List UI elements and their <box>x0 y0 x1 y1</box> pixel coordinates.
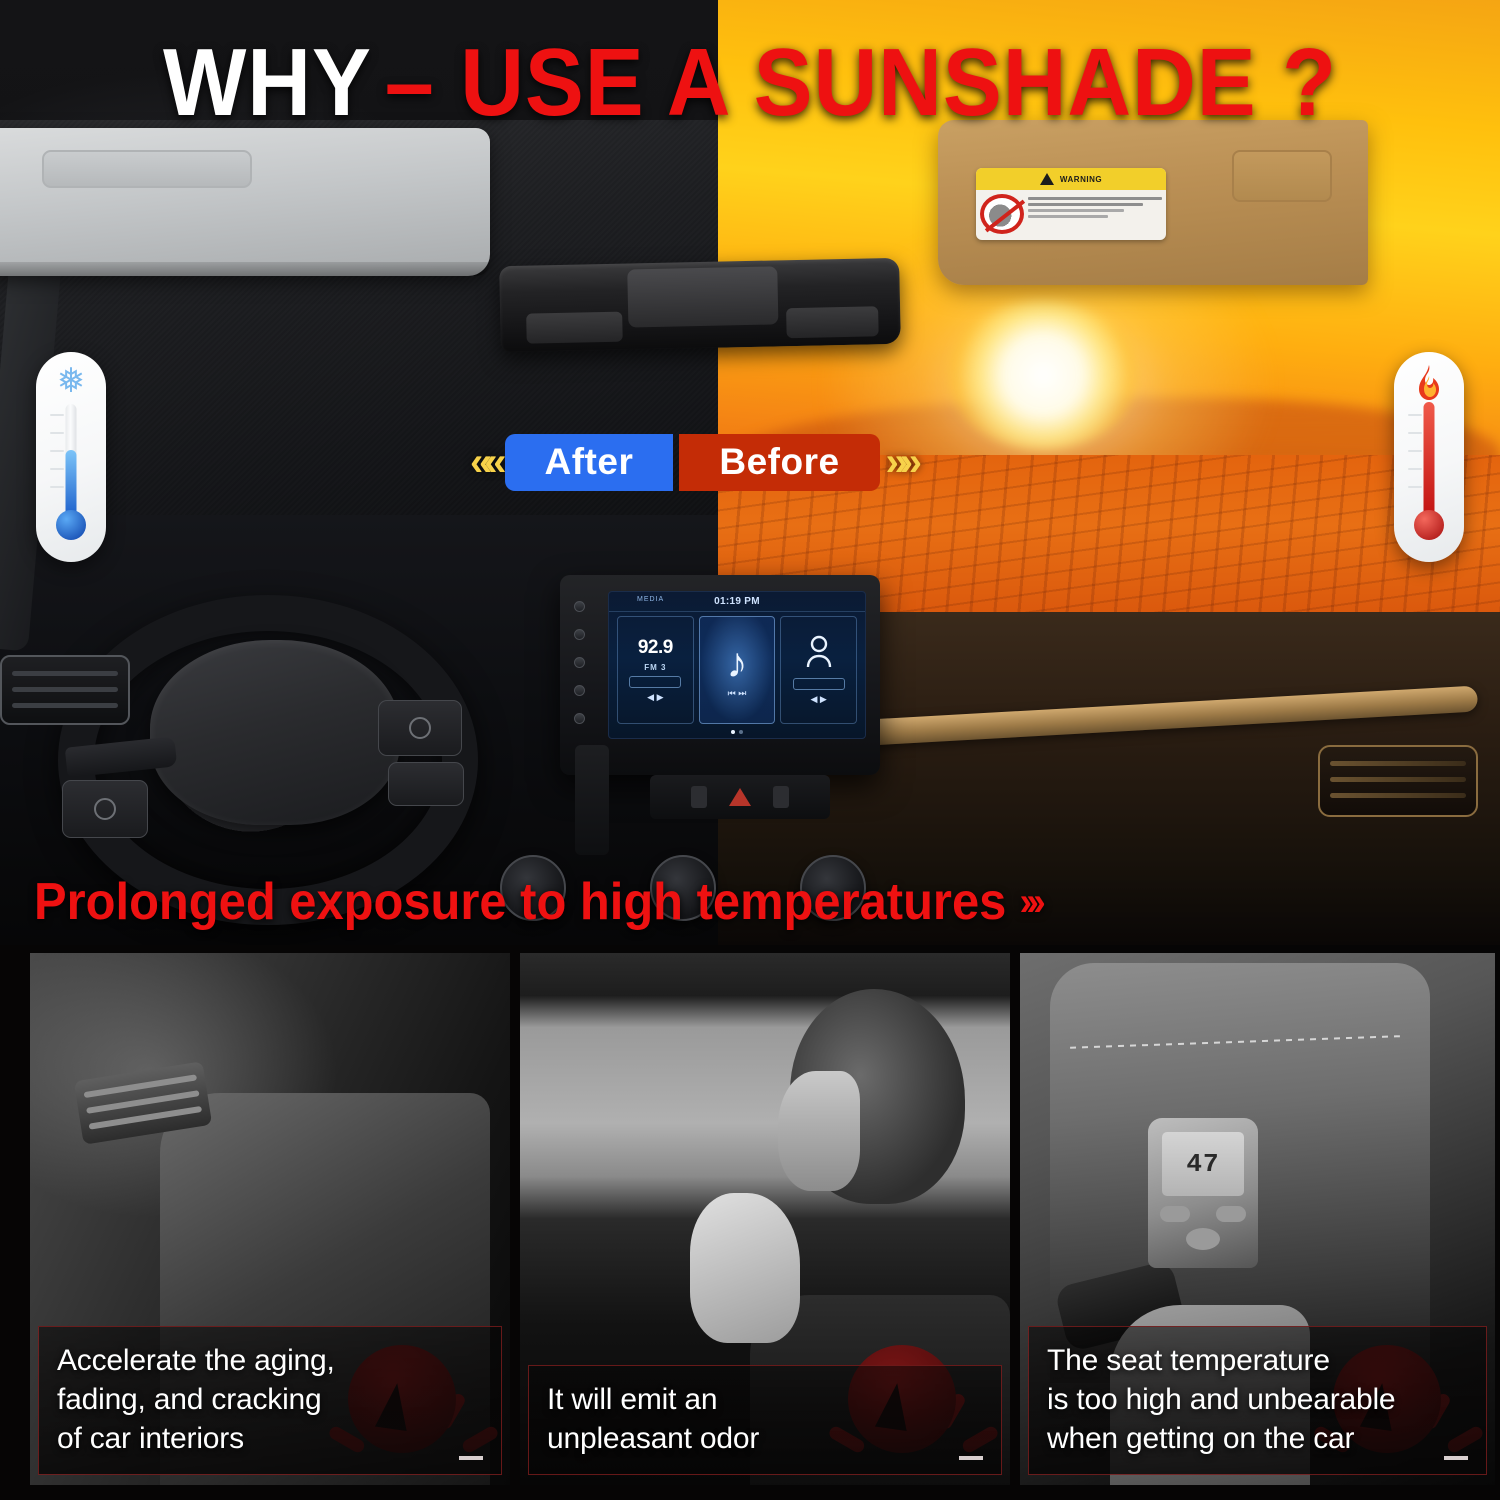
thermometer-display: 47 <box>1162 1132 1244 1196</box>
visor-edge <box>0 262 490 276</box>
screen-source-label: MEDIA <box>637 596 664 603</box>
air-vent-left <box>0 655 130 725</box>
console-mount-arm <box>575 745 609 855</box>
caption-line-1: Accelerate the aging, <box>57 1341 487 1380</box>
steering-control-right <box>378 700 462 756</box>
headline-red: – USE A SUNSHADE ? <box>385 35 1337 131</box>
media-tile[interactable]: ♪ ⏮ ⏭ <box>699 616 776 724</box>
sun-visor-right: WARNING <box>938 120 1368 285</box>
sun-icon <box>948 300 1138 450</box>
reflected-seatback-right <box>786 306 879 338</box>
steering-control-right-lower <box>388 762 464 806</box>
page-title: WHY – USE A SUNSHADE ? <box>60 28 1440 138</box>
hero-split-image: WARNING MEDIA <box>0 0 1500 945</box>
phone-status-pill[interactable] <box>793 678 845 690</box>
caption-line-1: It will emit an <box>547 1380 987 1419</box>
hazard-light-icon[interactable] <box>729 788 751 806</box>
phone-arrows[interactable]: ◀ ▶ <box>811 694 827 705</box>
rearview-mirror <box>499 258 901 352</box>
visor-slot <box>42 150 252 188</box>
air-vent-right <box>1318 745 1478 817</box>
seat-heater-left-button[interactable] <box>691 786 707 808</box>
radio-tile[interactable]: 92.9 FM 3 ◀ ▶ <box>617 616 694 724</box>
snowflake-icon: ❅ <box>57 364 86 398</box>
headline-white: WHY <box>163 35 372 131</box>
warning-title: WARNING <box>1060 175 1102 184</box>
airbag-warning-label: WARNING <box>976 168 1166 240</box>
thermometer-bulb-cold <box>56 510 86 540</box>
console-side-buttons[interactable] <box>574 601 585 724</box>
cold-thermometer-badge: ❅ <box>36 352 106 562</box>
panel-aging: Accelerate the aging, fading, and cracki… <box>30 953 510 1485</box>
tagline-text: Prolonged exposure to high temperatures <box>34 872 1006 932</box>
hot-thermometer-badge <box>1394 352 1464 562</box>
text-cursor <box>459 1456 483 1460</box>
caption-line-2: unpleasant odor <box>547 1419 987 1458</box>
infotainment-screen[interactable]: MEDIA 01:19 PM 92.9 FM 3 ◀ ▶ ♪ ⏮ ⏭ <box>608 591 866 739</box>
screen-status-bar: MEDIA 01:19 PM <box>609 592 865 612</box>
radio-arrows[interactable]: ◀ ▶ <box>647 692 663 703</box>
text-cursor <box>959 1456 983 1460</box>
panel-caption: It will emit an unpleasant odor <box>528 1365 1002 1475</box>
thermometer-ticks-hot <box>1408 414 1422 504</box>
seat-heater-right-button[interactable] <box>773 786 789 808</box>
reflected-seatback-left <box>526 312 623 344</box>
screen-clock: 01:19 PM <box>714 596 760 607</box>
person-icon <box>804 635 834 674</box>
product-infographic: WARNING MEDIA <box>0 0 1500 1500</box>
text-cursor <box>1444 1456 1468 1460</box>
panel-seat-temp: 47 The seat temperature is too high and … <box>1020 953 1495 1485</box>
before-after-toggle[interactable]: «« After Before »» <box>470 434 914 491</box>
mirror-mount <box>627 266 778 327</box>
right-chevron-icon: »» <box>886 442 915 482</box>
consequence-panels: Accelerate the aging, fading, and cracki… <box>0 945 1500 1500</box>
caption-line-2: fading, and cracking <box>57 1380 487 1419</box>
panel-caption: The seat temperature is too high and unb… <box>1028 1326 1487 1475</box>
radio-frequency: 92.9 <box>638 637 673 659</box>
warning-body <box>976 190 1166 238</box>
lower-control-panel[interactable] <box>650 775 830 819</box>
radio-preset-pill[interactable] <box>629 676 681 688</box>
after-label[interactable]: After <box>505 434 674 491</box>
screen-tiles: 92.9 FM 3 ◀ ▶ ♪ ⏮ ⏭ <box>617 616 857 724</box>
sun-visor-left <box>0 128 490 276</box>
man-face <box>778 1071 860 1191</box>
steering-knob-left <box>94 798 116 820</box>
thermometer-bulb-hot <box>1414 510 1444 540</box>
warning-text-lines <box>1028 194 1162 234</box>
visor-slot-right <box>1232 150 1332 202</box>
panel-odor: It will emit an unpleasant odor <box>520 953 1010 1485</box>
before-label[interactable]: Before <box>679 434 879 491</box>
panel-caption: Accelerate the aging, fading, and cracki… <box>38 1326 502 1475</box>
caption-line-3: when getting on the car <box>1047 1419 1472 1458</box>
steering-wheel-hub <box>150 640 400 825</box>
steering-control-left <box>62 780 148 838</box>
infrared-thermometer: 47 <box>1148 1118 1258 1268</box>
music-note-icon: ♪ <box>727 642 748 684</box>
thermometer-reading: 47 <box>1186 1149 1219 1179</box>
left-chevron-icon: «« <box>470 442 499 482</box>
caption-line-3: of car interiors <box>57 1419 487 1458</box>
screen-page-dots[interactable] <box>731 730 743 734</box>
warning-header: WARNING <box>976 168 1166 190</box>
thermometer-fill-hot <box>1424 402 1435 522</box>
media-transport-arrows[interactable]: ⏮ ⏭ <box>728 688 747 699</box>
section-tagline: Prolonged exposure to high temperatures … <box>34 872 1040 932</box>
warning-triangle-icon <box>1040 173 1054 185</box>
man-hand <box>690 1193 800 1343</box>
radio-band: FM 3 <box>644 663 666 672</box>
tagline-chevron-icon: ››› <box>1019 880 1040 925</box>
caption-line-1: The seat temperature <box>1047 1341 1472 1380</box>
thermometer-ticks-cold <box>50 414 64 504</box>
center-console: MEDIA 01:19 PM 92.9 FM 3 ◀ ▶ ♪ ⏮ ⏭ <box>560 575 880 775</box>
caption-line-2: is too high and unbearable <box>1047 1380 1472 1419</box>
phone-tile[interactable]: ◀ ▶ <box>780 616 857 724</box>
no-child-seat-icon <box>980 194 1024 234</box>
steering-knob-right <box>409 717 431 739</box>
